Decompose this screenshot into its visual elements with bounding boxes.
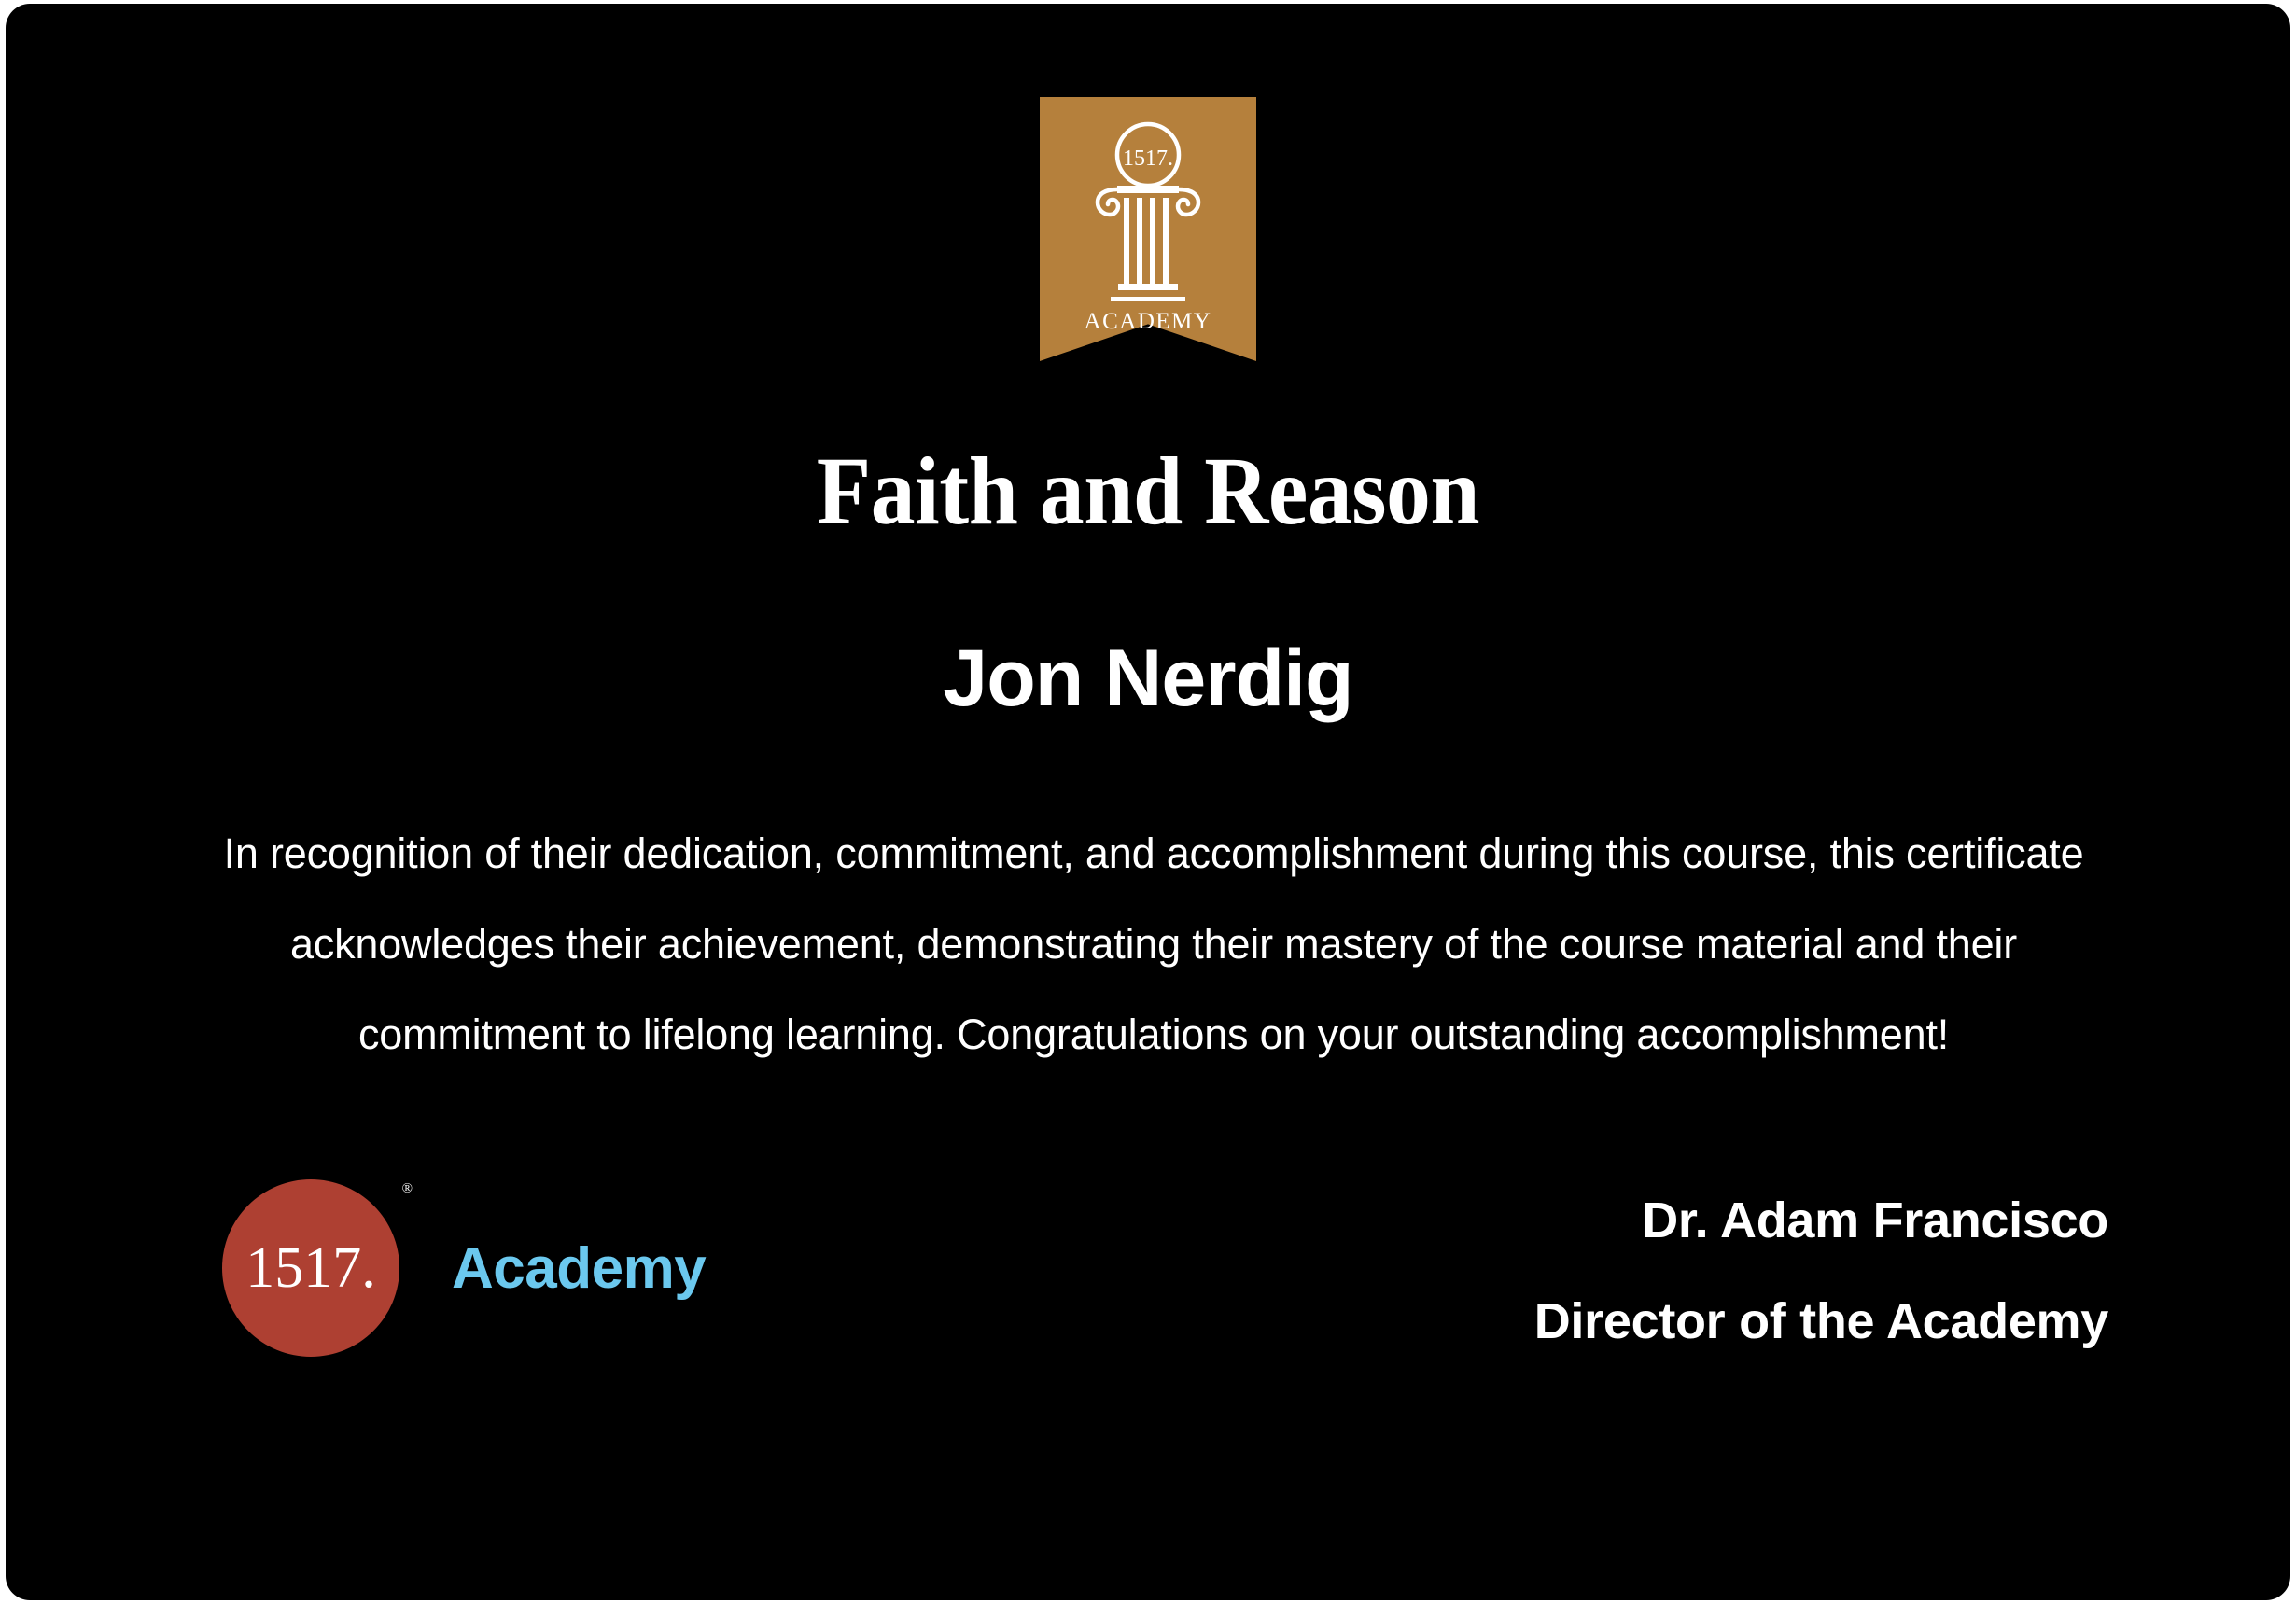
svg-text:1517.: 1517.: [1123, 146, 1173, 171]
banner-logo-container: 1517. ACADEMY: [6, 97, 2290, 361]
registered-trademark-icon: ®: [402, 1181, 413, 1197]
signatory-name: Dr. Adam Francisco: [1534, 1170, 2108, 1271]
certificate-footer: 1517. ® Academy Dr. Adam Francisco Direc…: [6, 1170, 2290, 1403]
column-1517-academy-icon: 1517. ACADEMY: [1040, 97, 1256, 361]
academy-ribbon-icon: 1517. ACADEMY: [1040, 97, 1256, 361]
brand-wordmark: Academy: [452, 1235, 706, 1302]
svg-text:ACADEMY: ACADEMY: [1085, 309, 1212, 334]
course-title: Faith and Reason: [97, 439, 2199, 545]
recipient-name: Jon Nerdig: [6, 633, 2290, 725]
certificate-card: 1517. ACADEMY: [6, 4, 2290, 1600]
signatory-role: Director of the Academy: [1534, 1271, 2108, 1372]
citation-text: In recognition of their dedication, comm…: [183, 808, 2124, 1080]
ribbon-emblem: 1517. ACADEMY: [1040, 97, 1256, 361]
1517-badge-icon: 1517. ®: [222, 1179, 399, 1357]
signature-block: Dr. Adam Francisco Director of the Acade…: [1534, 1170, 2108, 1372]
brand-lockup: 1517. ® Academy: [222, 1179, 706, 1357]
badge-year-label: 1517.: [245, 1239, 376, 1297]
